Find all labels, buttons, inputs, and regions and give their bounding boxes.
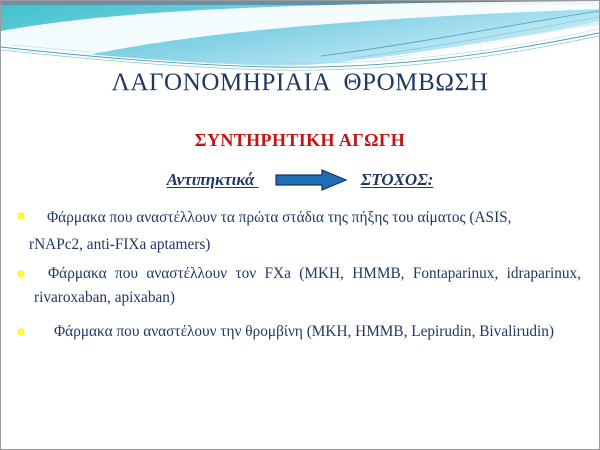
bullet-list: Φάρμακα που αναστέλλουν τα πρώτα στάδια … xyxy=(1,204,599,344)
wave-banner-graphic xyxy=(1,1,599,73)
list-item: Φάρμακα που αναστέλουν την θρομβίνη (ΜΚΗ… xyxy=(1,320,599,344)
yellow-dot-bullet-icon xyxy=(18,213,24,219)
right-block-arrow-shape xyxy=(275,169,347,191)
relation-target-label: ΣΤΟΧΟΣ: xyxy=(361,170,434,190)
yellow-dot-bullet-icon xyxy=(18,271,24,277)
list-item-text: Φάρμακα που αναστέλλουν τα πρώτα στάδια … xyxy=(1,204,599,258)
list-item-text: Φάρμακα που αναστέλουν την θρομβίνη (ΜΚΗ… xyxy=(1,320,599,344)
relation-row: Αντιπηκτικά ΣΤΟΧΟΣ: xyxy=(1,169,599,191)
right-block-arrow-icon xyxy=(275,169,347,191)
list-item-text: Φάρμακα που αναστέλλουν τον FXa (ΜΚΗ, ΗΜ… xyxy=(1,262,599,310)
slide-subtitle: ΣΥΝΤΗΡΗΤΙΚΗ ΑΓΩΓΗ xyxy=(1,130,599,151)
list-item: Φάρμακα που αναστέλλουν τον FXa (ΜΚΗ, ΗΜ… xyxy=(1,262,599,310)
decorative-wave-banner xyxy=(1,1,599,73)
relation-source-label: Αντιπηκτικά xyxy=(167,170,259,190)
slide-canvas: ΛΑΓΟΝΟΜΗΡΙΑΙΑ ΘΡΟΜΒΩΣΗ ΣΥΝΤΗΡΗΤΙΚΗ ΑΓΩΓΗ… xyxy=(0,0,600,450)
slide-title: ΛΑΓΟΝΟΜΗΡΙΑΙΑ ΘΡΟΜΒΩΣΗ xyxy=(1,69,599,97)
list-item: Φάρμακα που αναστέλλουν τα πρώτα στάδια … xyxy=(1,204,599,258)
yellow-dot-bullet-icon xyxy=(18,329,24,335)
